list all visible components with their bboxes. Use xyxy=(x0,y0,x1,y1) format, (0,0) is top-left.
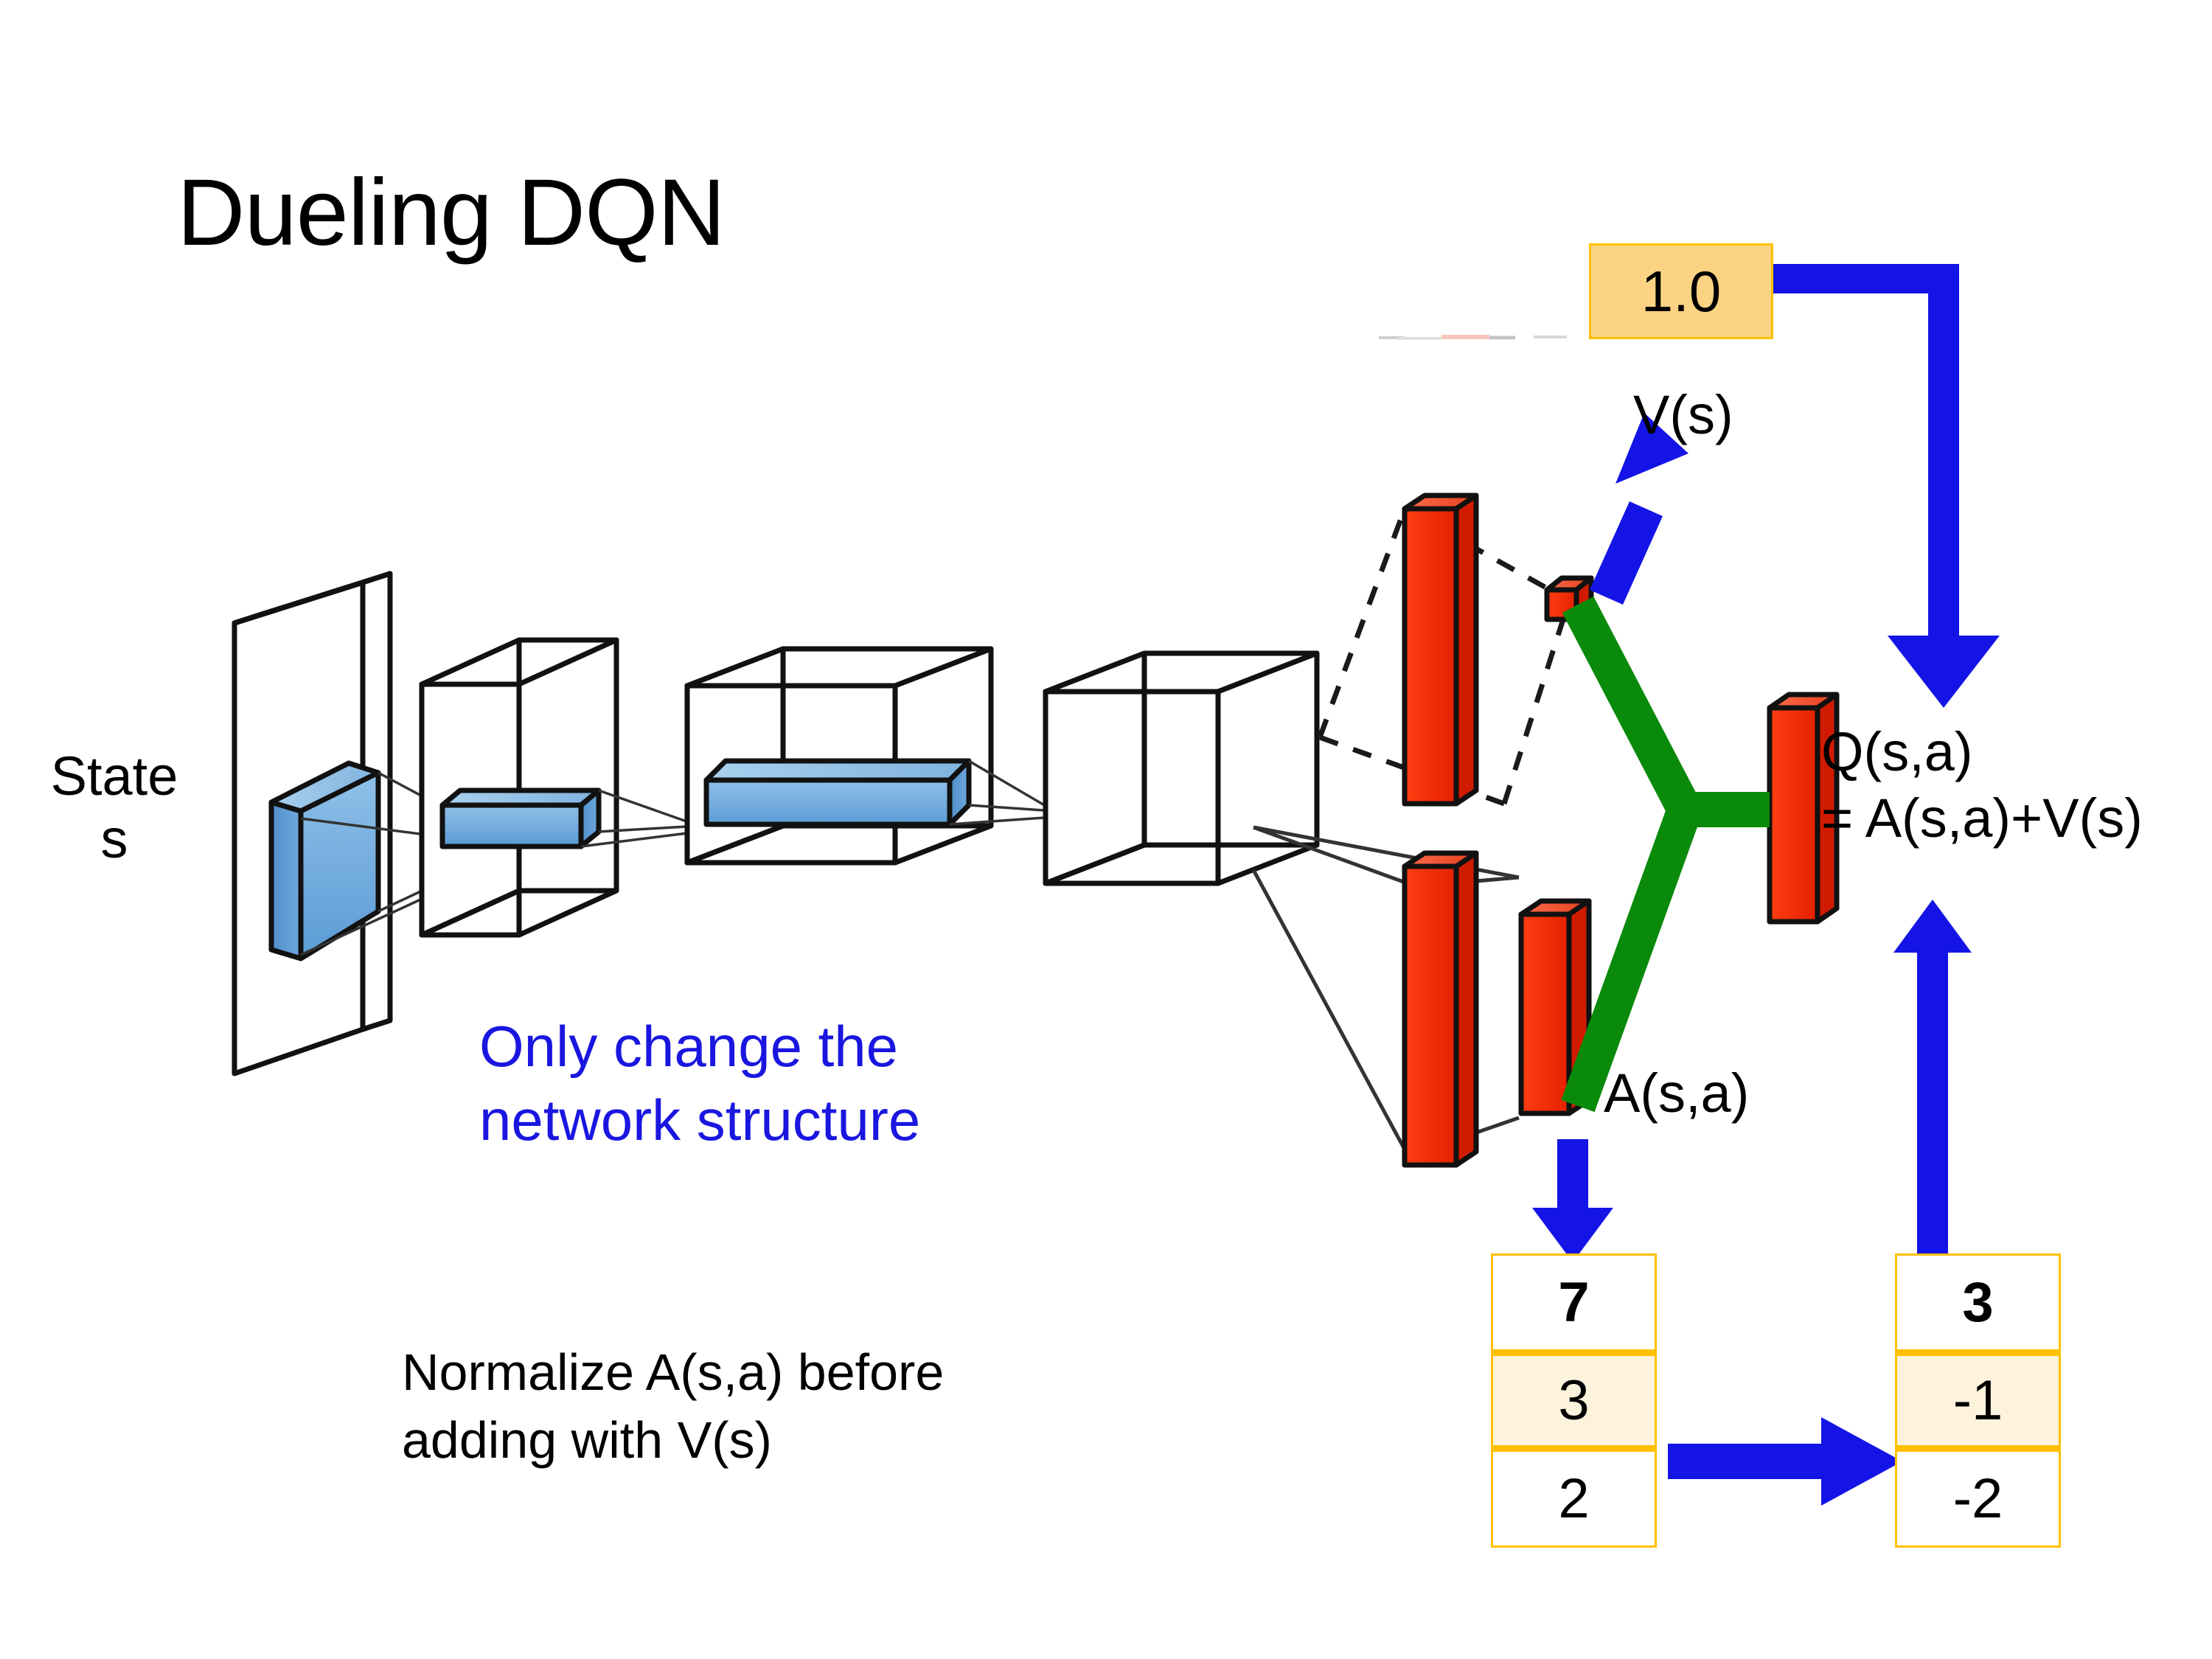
value-stream-label: V(s) xyxy=(1633,383,1733,446)
advantage-values-table: 7 3 2 xyxy=(1491,1253,1657,1548)
advantage-stream-label: A(s,a) xyxy=(1604,1062,1749,1124)
blue-note-line1: Only change the xyxy=(479,1014,898,1079)
arrow-qvalues-to-q xyxy=(1893,900,1972,1255)
normalize-note: Normalize A(s,a) beforeadding with V(s) xyxy=(402,1338,944,1475)
fc-bar-value xyxy=(1405,495,1476,804)
fc-bar-advantage xyxy=(1405,853,1476,1165)
value-scalar-box: 1.0 xyxy=(1589,243,1773,339)
q-function-label: Q(s,a)= A(s,a)+V(s) xyxy=(1821,719,2143,852)
state-label-line2: s xyxy=(101,808,128,869)
table-row: -1 xyxy=(1895,1352,2061,1450)
q-label-line2: = A(s,a)+V(s) xyxy=(1821,787,2143,849)
merge-connector-green xyxy=(1578,605,1770,1106)
table-row: 3 xyxy=(1491,1352,1657,1450)
conv-block-2 xyxy=(687,649,991,863)
normalize-note-line1: Normalize A(s,a) before xyxy=(402,1343,944,1401)
connector-fan-advantage xyxy=(1253,827,1519,1156)
q-label-line1: Q(s,a) xyxy=(1821,721,1973,782)
table-row: 3 xyxy=(1895,1253,2061,1352)
arrow-normalize-advantage xyxy=(1668,1417,1902,1506)
blue-note: Only change thenetwork structure xyxy=(479,1010,920,1158)
slide-canvas: Dueling DQN States V(s) A(s,a) Q(s,a)= A… xyxy=(0,0,2212,1659)
state-label-line1: State xyxy=(51,745,178,807)
page-title: Dueling DQN xyxy=(177,159,725,267)
table-row: 2 xyxy=(1491,1450,1657,1548)
arrow-advantage-to-table xyxy=(1532,1139,1613,1262)
faint-artifact xyxy=(1379,337,1567,338)
table-row: -2 xyxy=(1895,1450,2061,1548)
q-values-table: 3 -1 -2 xyxy=(1895,1253,2061,1548)
state-label: States xyxy=(22,745,206,870)
conv-kernel-1 xyxy=(442,790,599,846)
blue-note-line2: network structure xyxy=(479,1088,920,1152)
table-row: 7 xyxy=(1491,1253,1657,1352)
normalize-note-line2: adding with V(s) xyxy=(402,1411,772,1469)
conv-block-3 xyxy=(1046,653,1317,883)
arrow-value-to-q xyxy=(1773,264,2000,708)
conv-kernel-2 xyxy=(706,761,969,824)
